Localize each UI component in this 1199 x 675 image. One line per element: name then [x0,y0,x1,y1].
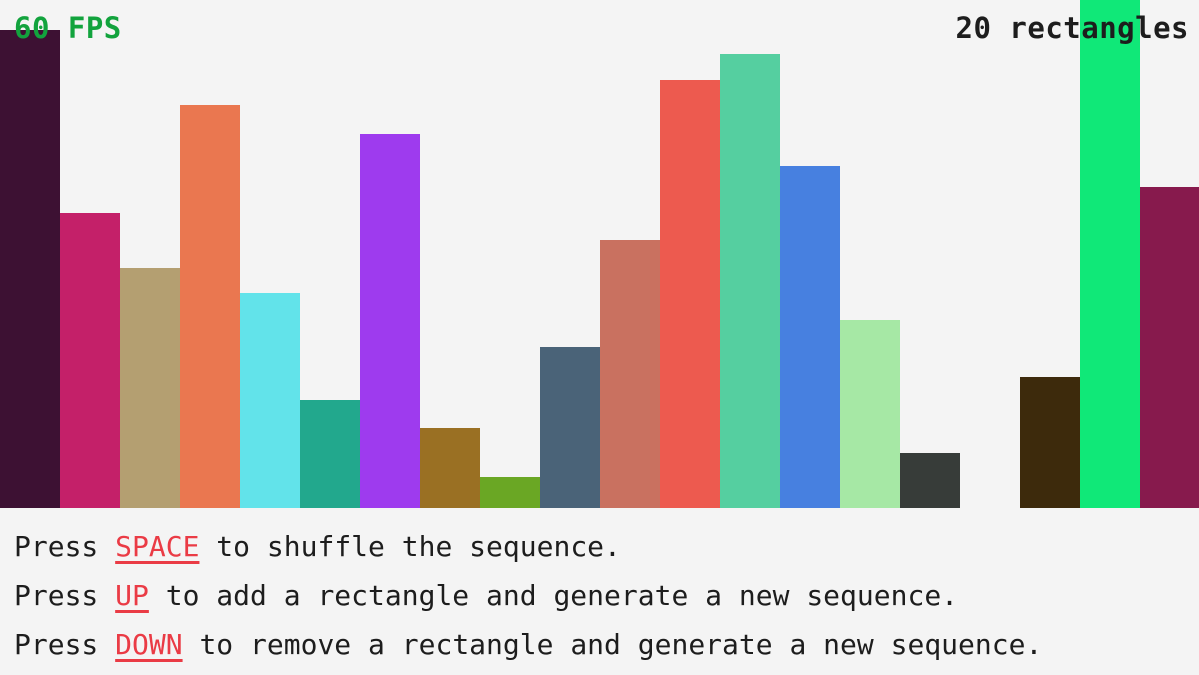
fps-counter: 60 FPS [14,14,122,43]
bar-10 [540,347,600,508]
bar-12 [660,80,720,508]
instruction-prefix: Press [14,579,115,612]
instruction-line-3: Press DOWN to remove a rectangle and gen… [14,620,1199,669]
instruction-suffix: to remove a rectangle and generate a new… [183,628,1043,661]
bar-16 [900,453,960,508]
bar-4 [180,105,240,508]
instruction-prefix: Press [14,530,115,563]
instruction-suffix: to add a rectangle and generate a new se… [149,579,958,612]
key-hint-space[interactable]: SPACE [115,530,199,563]
bar-7 [360,134,420,508]
instruction-prefix: Press [14,628,115,661]
bar-20 [1140,187,1199,508]
instruction-line-2: Press UP to add a rectangle and generate… [14,571,1199,620]
bar-5 [240,293,300,508]
key-hint-up[interactable]: UP [115,579,149,612]
bar-6 [300,400,360,508]
bar-14 [780,166,840,508]
bar-3 [120,268,180,508]
bar-15 [840,320,900,508]
bar-8 [420,428,480,508]
rectangle-sequence-app: 60 FPS 20 rectangles Press SPACE to shuf… [0,0,1199,675]
bar-9 [480,477,540,508]
bar-11 [600,240,660,508]
instruction-line-1: Press SPACE to shuffle the sequence. [14,522,1199,571]
bar-18 [1020,377,1080,508]
instruction-suffix: to shuffle the sequence. [199,530,620,563]
instructions-panel: Press SPACE to shuffle the sequence.Pres… [0,508,1199,675]
bar-13 [720,54,780,508]
bar-19 [1080,0,1140,508]
bar-chart-canvas [0,0,1199,508]
key-hint-down[interactable]: DOWN [115,628,182,661]
rectangle-count-label: 20 rectangles [956,14,1189,43]
bar-2 [60,213,120,508]
bar-1 [0,30,60,508]
